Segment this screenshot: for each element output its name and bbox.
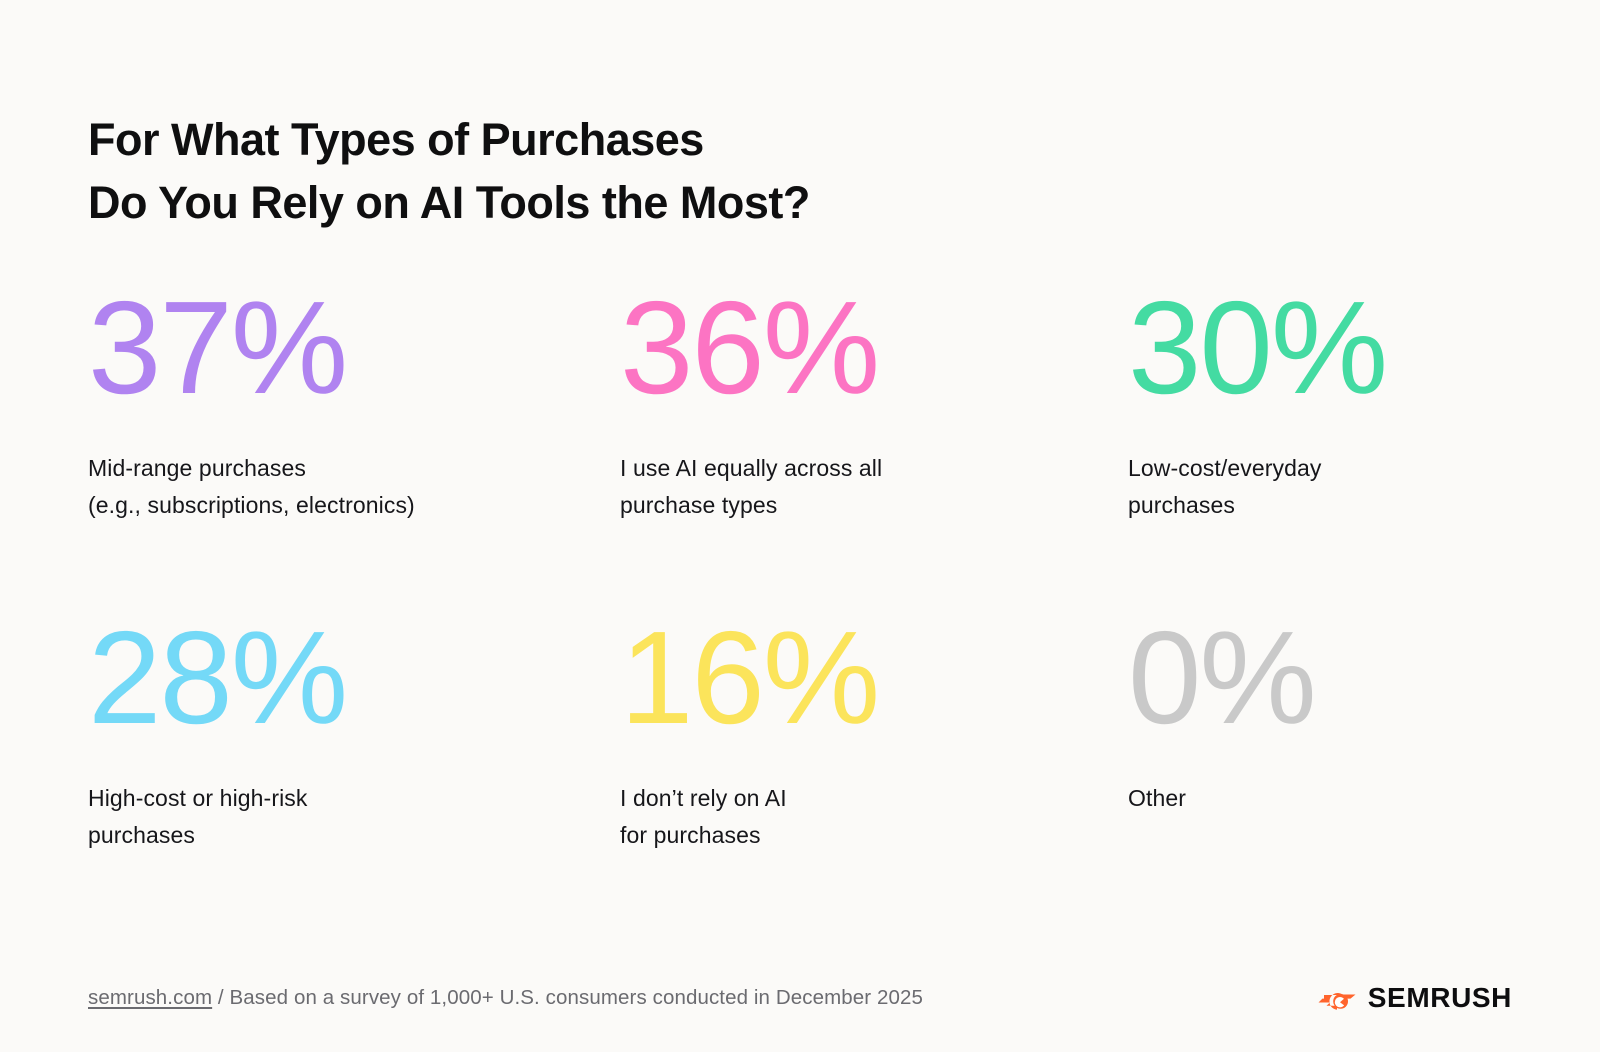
- semrush-link[interactable]: semrush.com: [88, 986, 212, 1009]
- semrush-wordmark: SEMRUSH: [1368, 984, 1512, 1012]
- stat-label: Other: [1128, 780, 1508, 817]
- footer-survey-note: / Based on a survey of 1,000+ U.S. consu…: [212, 986, 923, 1009]
- footer-source-text: semrush.com / Based on a survey of 1,000…: [88, 984, 923, 1012]
- stat-label: High-cost or high-risk purchases: [88, 780, 620, 854]
- stat-label: I use AI equally across all purchase typ…: [620, 450, 1128, 524]
- stat-card-other: 0% Other: [1128, 612, 1508, 942]
- infographic-canvas: For What Types of Purchases Do You Rely …: [0, 0, 1600, 1052]
- stat-label: I don’t rely on AI for purchases: [620, 780, 1128, 854]
- stat-card-high-cost: 28% High-cost or high-risk purchases: [88, 612, 620, 942]
- page-title: For What Types of Purchases Do You Rely …: [88, 108, 1288, 234]
- semrush-logo[interactable]: SEMRUSH: [1317, 981, 1512, 1015]
- semrush-comet-icon: [1317, 984, 1357, 1012]
- stat-card-low-cost: 30% Low-cost/everyday purchases: [1128, 282, 1508, 612]
- stat-label: Low-cost/everyday purchases: [1128, 450, 1508, 524]
- stat-value: 0%: [1128, 612, 1508, 752]
- stat-value: 28%: [88, 612, 620, 752]
- stat-value: 36%: [620, 282, 1128, 422]
- footer: semrush.com / Based on a survey of 1,000…: [88, 975, 1512, 1021]
- stat-label: Mid-range purchases (e.g., subscriptions…: [88, 450, 620, 524]
- stat-value: 30%: [1128, 282, 1508, 422]
- stat-card-no-reliance: 16% I don’t rely on AI for purchases: [620, 612, 1128, 942]
- stat-value: 16%: [620, 612, 1128, 752]
- stat-card-equal-use: 36% I use AI equally across all purchase…: [620, 282, 1128, 612]
- stats-grid: 37% Mid-range purchases (e.g., subscript…: [88, 282, 1508, 942]
- stat-card-mid-range: 37% Mid-range purchases (e.g., subscript…: [88, 282, 620, 612]
- stat-value: 37%: [88, 282, 620, 422]
